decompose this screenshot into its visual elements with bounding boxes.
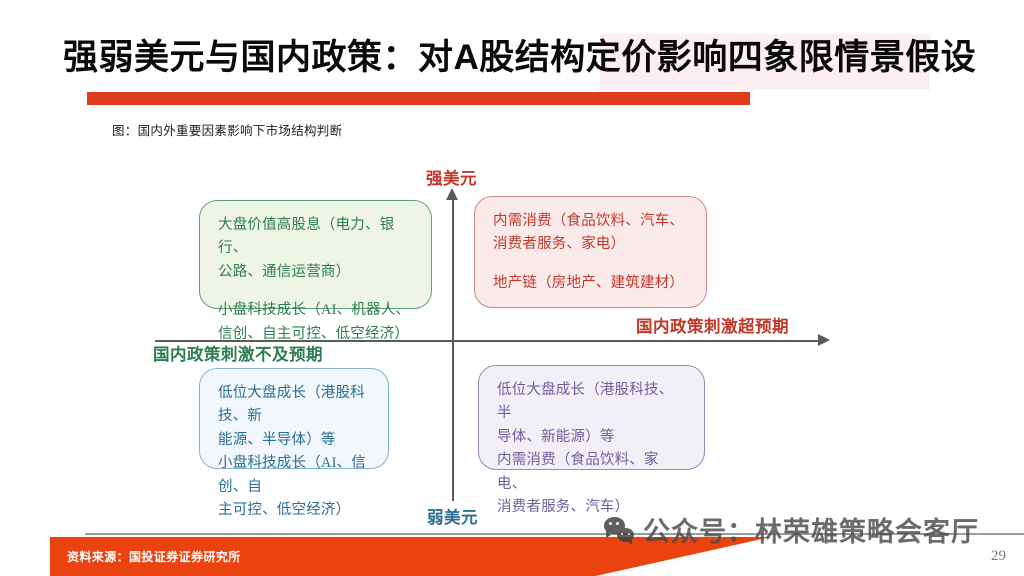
quadrant-br-line-1: 低位大盘成长（港股科技、半 xyxy=(497,379,688,426)
quadrant-box-top-right: 内需消费（食品饮料、汽车、 消费者服务、家电） 地产链（房地产、建筑建材） xyxy=(474,196,707,308)
quadrant-tr-line-3: 地产链（房地产、建筑建材） xyxy=(493,272,690,295)
quadrant-tl-line-1: 大盘价值高股息（电力、银行、 xyxy=(218,214,415,261)
vertical-axis-arrow-icon xyxy=(446,188,458,200)
footer-source-text: 资料来源：国投证券证券研究所 xyxy=(67,548,241,565)
quadrant-box-bottom-right: 低位大盘成长（港股科技、半 导体、新能源）等 内需消费（食品饮料、家电、 消费者… xyxy=(478,365,705,470)
quadrant-br-line-3: 内需消费（食品饮料、家电、 xyxy=(497,449,688,496)
quadrant-bl-line-3: 小盘科技成长（AI、信创、自 xyxy=(218,452,372,499)
quadrant-tl-line-3: 小盘科技成长（AI、机器人、 xyxy=(218,299,415,322)
quadrant-box-top-left: 大盘价值高股息（电力、银行、 公路、通信运营商） 小盘科技成长（AI、机器人、 … xyxy=(199,200,432,309)
axis-label-strong-dollar: 强美元 xyxy=(426,165,477,189)
vertical-axis-line xyxy=(452,198,454,501)
page-title: 强弱美元与国内政策：对A股结构定价影响四象限情景假设 xyxy=(63,36,973,80)
quadrant-bl-line-4: 主可控、低空经济） xyxy=(218,499,372,522)
quadrant-tr-line-1: 内需消费（食品饮料、汽车、 xyxy=(493,210,690,233)
quadrant-bl-line-2: 能源、半导体）等 xyxy=(218,429,372,452)
horizontal-axis-arrow-icon xyxy=(818,334,830,346)
quadrant-tl-line-4: 信创、自主可控、低空经济） xyxy=(218,323,415,346)
slide-canvas: 强弱美元与国内政策：对A股结构定价影响四象限情景假设 图：国内外重要因素影响下市… xyxy=(0,0,1024,576)
quadrant-tl-line-2: 公路、通信运营商） xyxy=(218,261,415,284)
quadrant-box-bottom-left: 低位大盘成长（港股科技、新 能源、半导体）等 小盘科技成长（AI、信创、自 主可… xyxy=(199,368,389,469)
axis-label-weak-dollar: 弱美元 xyxy=(427,504,478,528)
watermark-text: 公众号：林荣雄策略会客厅 xyxy=(643,510,979,549)
quadrant-tr-line-2: 消费者服务、家电） xyxy=(493,233,690,256)
chart-caption: 图：国内外重要因素影响下市场结构判断 xyxy=(112,120,342,139)
watermark: 公众号：林荣雄策略会客厅 xyxy=(604,510,979,549)
quadrant-bl-line-1: 低位大盘成长（港股科技、新 xyxy=(218,382,372,429)
page-number: 29 xyxy=(991,548,1006,565)
quadrant-br-line-2: 导体、新能源）等 xyxy=(497,426,688,449)
axis-label-policy-above-expectation: 国内政策刺激超预期 xyxy=(636,313,789,337)
wechat-icon xyxy=(604,517,634,542)
title-underline-rule xyxy=(87,92,750,105)
